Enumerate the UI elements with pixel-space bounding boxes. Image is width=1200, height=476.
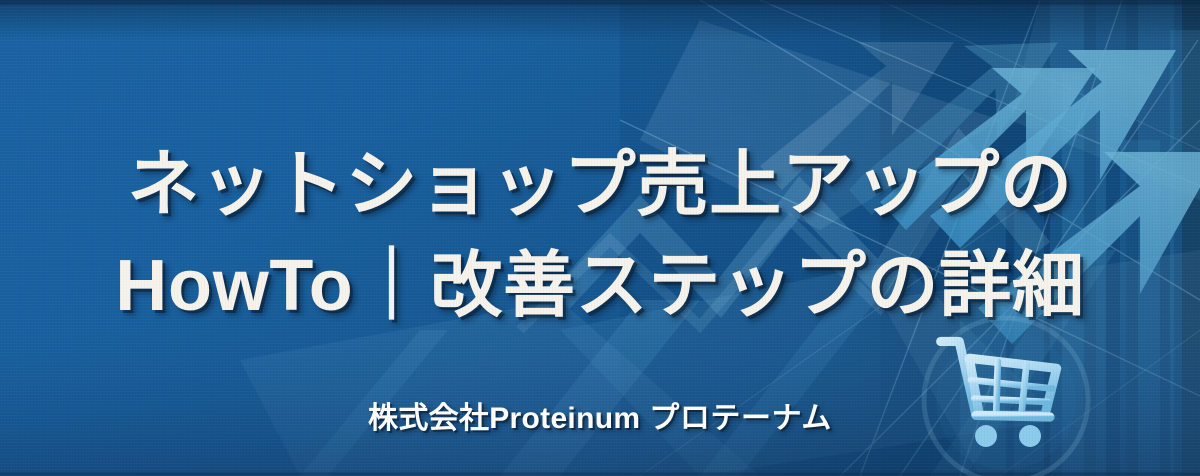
company-name: 株式会社Proteinum <box>368 402 640 435</box>
banner-content: ネットショップ売上アップの HowTo｜改善ステップの詳細 株式会社Protei… <box>0 0 1200 476</box>
title-steps-text: 改善ステップの詳細 <box>430 246 1084 326</box>
sales-growth-banner: ネットショップ売上アップの HowTo｜改善ステップの詳細 株式会社Protei… <box>0 0 1200 476</box>
banner-title-line-1: ネットショップ売上アップの <box>0 142 1200 228</box>
title-howto-text: HowTo <box>115 246 353 326</box>
banner-title-line-2: HowTo｜改善ステップの詳細 <box>0 243 1200 329</box>
title-separator: ｜ <box>353 246 430 326</box>
company-name-kana: プロテーナム <box>640 402 832 435</box>
company-subtitle: 株式会社Proteinum プロテーナム <box>0 400 1200 438</box>
